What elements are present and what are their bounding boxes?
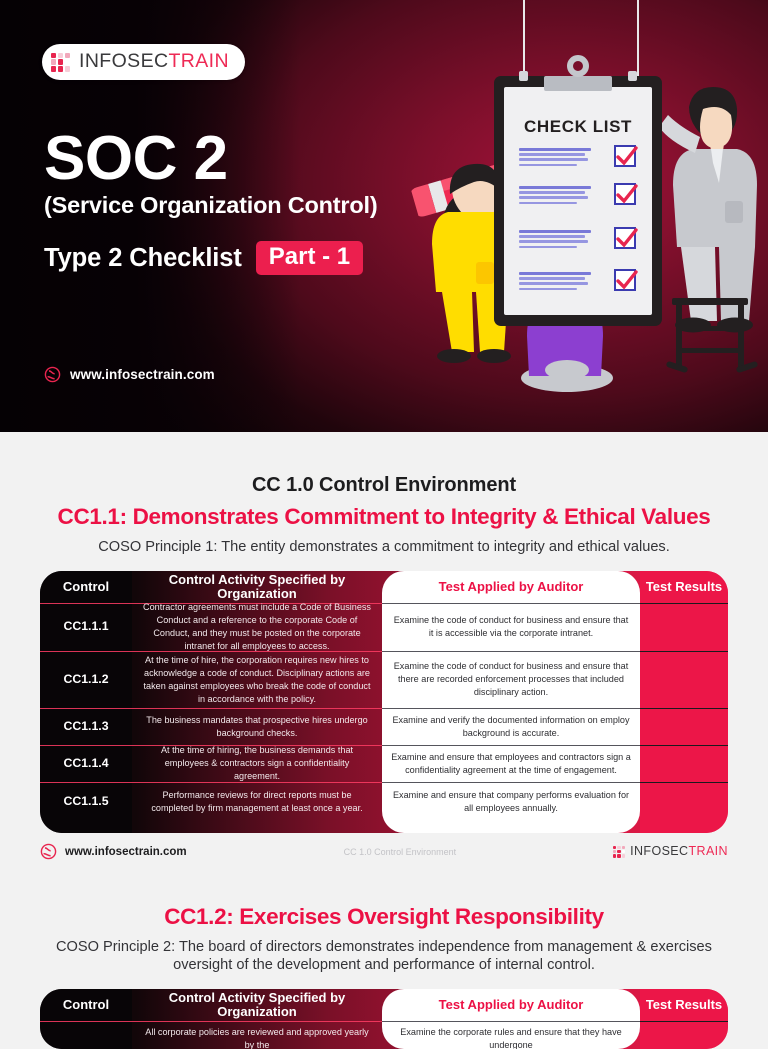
footer-website[interactable]: www.infosectrain.com [40,843,187,860]
header-auditor: Test Applied by Auditor [382,998,640,1012]
row-divider [640,1021,728,1022]
table-header-row: Control Control Activity Specified by Or… [40,571,728,603]
cell-activity: At the time of hiring, the business dema… [132,740,382,787]
cell-results[interactable] [640,723,728,731]
brand-name-part2: TRAIN [168,50,229,72]
text-lines [519,148,591,169]
checkbox-checked-icon[interactable] [614,269,636,291]
row-divider [382,1021,640,1022]
clipboard-paper: CHECK LIST [504,87,652,315]
footer-brand-part1: INFOSEC [630,844,688,858]
control-table-card: Control Control Activity Specified by Or… [40,571,728,833]
table-row: CC1.1.3 The business mandates that prosp… [40,708,728,745]
hero-banner: INFOSECTRAIN SOC 2 (Service Organization… [0,0,768,432]
clipboard-hook-right [628,71,637,81]
ladder-illustration [666,292,762,378]
clipboard-title: CHECK LIST [504,117,652,137]
checklist-item [519,183,640,211]
cell-control: CC1.1.4 [40,751,132,776]
hanging-string-left [523,0,525,78]
footer-center-label: CC 1.0 Control Environment [344,847,457,857]
row-divider [640,651,728,652]
footer-brand-wordmark: INFOSECTRAIN [630,845,728,858]
globe-icon [44,366,61,383]
card-footer: www.infosectrain.com CC 1.0 Control Envi… [40,842,728,862]
hero-title: SOC 2 [44,130,378,188]
clipboard-ring [567,55,589,77]
brand-name-part1: INFOSEC [79,50,168,72]
globe-icon [40,843,57,860]
infosectrain-grid-icon [613,846,625,858]
checklist-item [519,145,640,173]
row-divider [382,651,640,652]
text-lines [519,186,591,207]
table-row: CC1.1.2 At the time of hire, the corpora… [40,651,728,708]
header-control: Control [40,580,132,594]
row-divider [382,708,640,709]
cell-auditor: Examine the corporate rules and ensure t… [382,1022,640,1049]
row-divider [640,745,728,746]
checklist-item [519,269,640,297]
row-divider [640,782,728,783]
checkbox-checked-icon[interactable] [614,145,636,167]
clipboard-clamp [544,76,612,91]
header-results: Test Results [640,998,728,1012]
row-divider [640,708,728,709]
hanging-string-right [637,0,639,78]
row-divider [640,603,728,604]
control-table-card: Control Control Activity Specified by Or… [40,989,728,1049]
brand-wordmark: INFOSECTRAIN [79,52,229,72]
checkbox-checked-icon[interactable] [614,227,636,249]
header-control: Control [40,998,132,1012]
cell-auditor: Examine the code of conduct for business… [382,656,640,703]
cell-control: CC1.1.5 [40,789,132,814]
cell-activity: Contractor agreements must include a Cod… [132,597,382,657]
checkbox-checked-icon[interactable] [614,183,636,205]
cell-results[interactable] [640,1022,728,1030]
hero-website-text: www.infosectrain.com [70,367,215,382]
section-group-title: CC 1.0 Control Environment [0,474,768,497]
table-row: All corporate policies are reviewed and … [40,1021,728,1049]
cell-auditor: Examine and ensure that company performs… [382,785,640,819]
cell-activity: Performance reviews for direct reports m… [132,785,382,819]
section-title: CC1.2: Exercises Oversight Responsibilit… [0,904,768,930]
clipboard-hook-left [519,71,528,81]
section-description: COSO Principle 2: The board of directors… [0,938,768,975]
text-lines [519,272,591,293]
table-row: CC1.1.5 Performance reviews for direct r… [40,782,728,822]
cell-activity: All corporate policies are reviewed and … [132,1022,382,1049]
hero-type-label: Type 2 Checklist [44,244,242,273]
part-badge: Part - 1 [256,241,363,275]
cell-results[interactable] [640,760,728,768]
table-header-row: Control Control Activity Specified by Or… [40,989,728,1021]
cell-auditor: Examine and verify the documented inform… [382,710,640,744]
section-cc12: CC1.2: Exercises Oversight Responsibilit… [0,904,768,1049]
row-divider [382,745,640,746]
hero-text-block: SOC 2 (Service Organization Control) Typ… [44,130,378,275]
clipboard: CHECK LIST [494,76,662,326]
hero-type-line: Type 2 Checklist Part - 1 [44,241,378,275]
text-lines [519,230,591,251]
cell-results[interactable] [640,798,728,806]
cell-auditor: Examine and ensure that employees and co… [382,747,640,781]
header-results: Test Results [640,580,728,594]
footer-brand-logo: INFOSECTRAIN [613,845,728,858]
cell-control [40,1022,132,1030]
header-activity: Control Activity Specified by Organizati… [132,991,382,1018]
cell-auditor: Examine the code of conduct for business… [382,610,640,644]
cell-activity: The business mandates that prospective h… [132,710,382,744]
checklist-item [519,227,640,255]
brand-logo: INFOSECTRAIN [42,44,245,80]
table-body: CC1.1.1 Contractor agreements must inclu… [40,603,728,833]
hero-website[interactable]: www.infosectrain.com [44,366,215,383]
section-description: COSO Principle 1: The entity demonstrate… [0,538,768,557]
table-row: CC1.1.4 At the time of hiring, the busin… [40,745,728,782]
cell-control: CC1.1.3 [40,714,132,739]
table-row: CC1.1.1 Contractor agreements must inclu… [40,603,728,651]
cell-control: CC1.1.1 [40,614,132,639]
section-title: CC1.1: Demonstrates Commitment to Integr… [0,504,768,530]
checklist-illustration: CHECK LIST [404,0,768,432]
infosectrain-grid-icon [51,53,70,72]
hero-subtitle: (Service Organization Control) [44,192,378,219]
header-activity: Control Activity Specified by Organizati… [132,573,382,600]
header-auditor: Test Applied by Auditor [382,580,640,594]
cell-results[interactable] [640,623,728,631]
footer-website-text: www.infosectrain.com [65,846,187,858]
cell-control: CC1.1.2 [40,667,132,692]
cell-results[interactable] [640,676,728,684]
table-body: All corporate policies are reviewed and … [40,1021,728,1049]
row-divider [382,782,640,783]
footer-brand-part2: TRAIN [688,844,728,858]
section-cc11: CC 1.0 Control Environment CC1.1: Demons… [0,474,768,862]
row-divider [382,603,640,604]
cell-activity: At the time of hire, the corporation req… [132,650,382,710]
